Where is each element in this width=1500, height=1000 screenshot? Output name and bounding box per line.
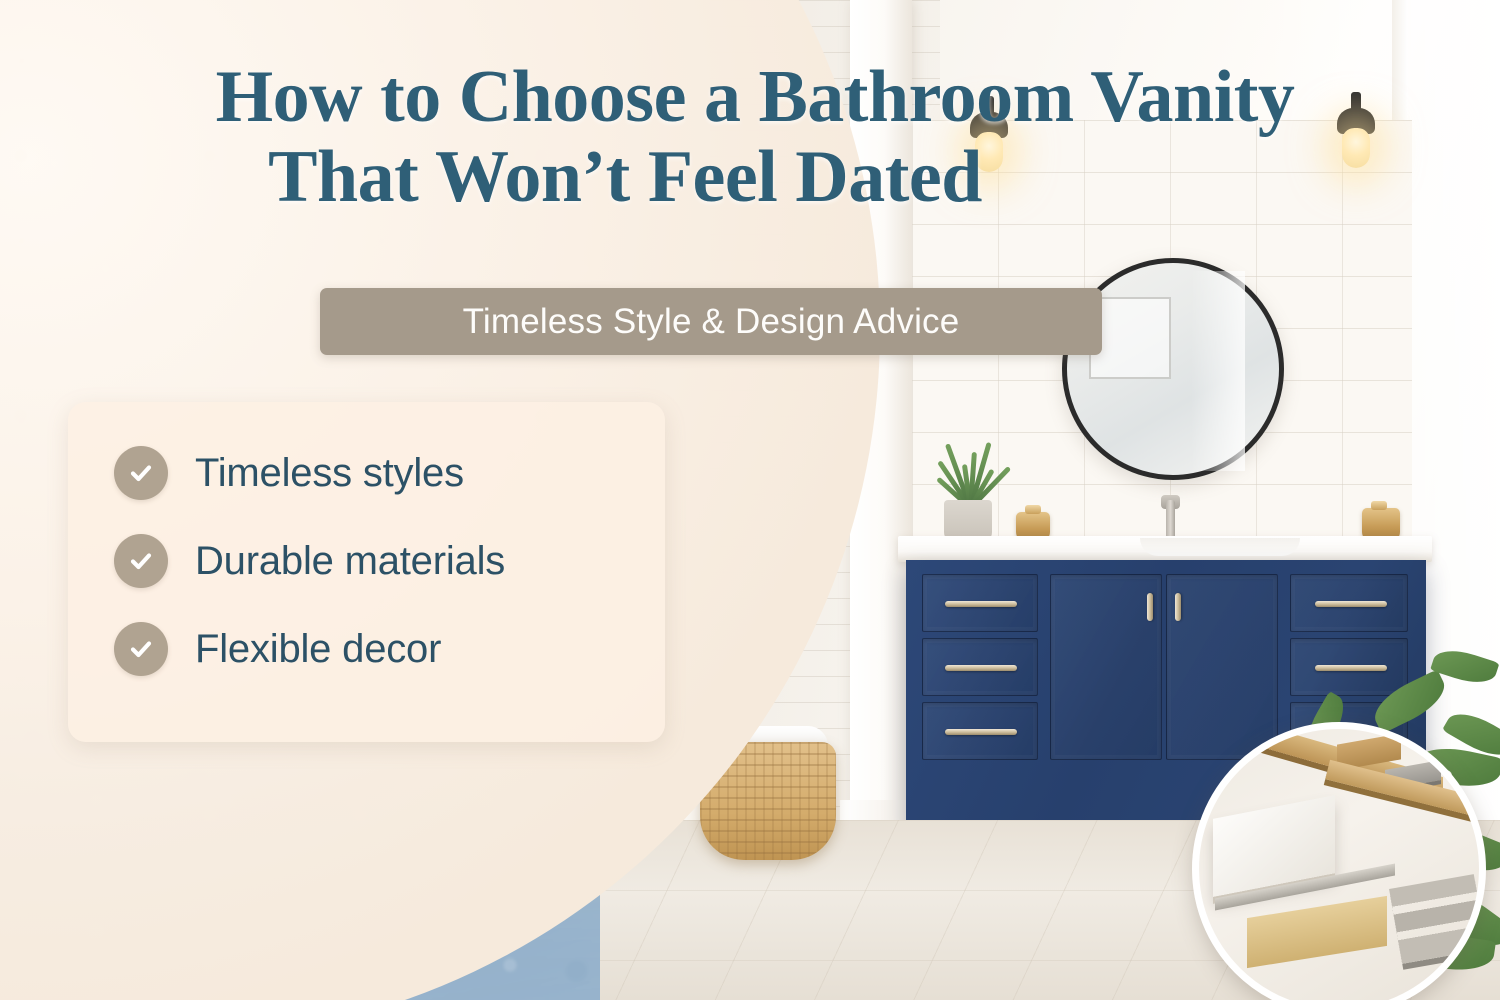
- drawer-pull: [945, 665, 1017, 671]
- check-icon: [114, 534, 168, 588]
- drawer-pull: [945, 601, 1017, 607]
- vanity-door-left: [1050, 574, 1162, 760]
- check-icon: [114, 622, 168, 676]
- undermount-sink: [1140, 538, 1300, 556]
- door-pull: [1147, 593, 1153, 621]
- plant-leaf: [1367, 669, 1452, 734]
- vanity-drawer: [922, 574, 1038, 632]
- subtitle-text: Timeless Style & Design Advice: [463, 302, 960, 342]
- page-title: How to Choose a Bathroom Vanity That Won…: [0, 58, 1500, 218]
- vanity-drawer: [922, 638, 1038, 696]
- subtitle-banner: Timeless Style & Design Advice: [320, 288, 1102, 355]
- material-samples-inset: [1192, 722, 1486, 1000]
- check-icon: [114, 446, 168, 500]
- woven-basket: [700, 742, 836, 860]
- door-pull: [1175, 593, 1181, 621]
- sample-stone-mosaic: [1389, 874, 1486, 964]
- title-line-2: That Won’t Feel Dated: [0, 138, 1500, 218]
- feature-item-durable-materials: Durable materials: [114, 534, 665, 588]
- drawer-pull: [945, 729, 1017, 735]
- potted-fern: [930, 438, 1010, 508]
- poster-canvas: How to Choose a Bathroom Vanity That Won…: [0, 0, 1500, 1000]
- vanity-drawer: [922, 702, 1038, 760]
- feature-item-timeless-styles: Timeless styles: [114, 446, 665, 500]
- sample-tan-board: [1247, 896, 1387, 968]
- title-line-1: How to Choose a Bathroom Vanity: [0, 58, 1500, 138]
- mirror-highlight: [1191, 271, 1245, 471]
- feature-label: Durable materials: [195, 539, 505, 584]
- jar-lid: [1025, 505, 1041, 514]
- feature-label: Flexible decor: [195, 627, 441, 672]
- feature-label: Timeless styles: [195, 451, 464, 496]
- feature-item-flexible-decor: Flexible decor: [114, 622, 665, 676]
- feature-list-card: Timeless styles Durable materials Flexib…: [68, 402, 665, 742]
- jar-lid: [1371, 501, 1387, 510]
